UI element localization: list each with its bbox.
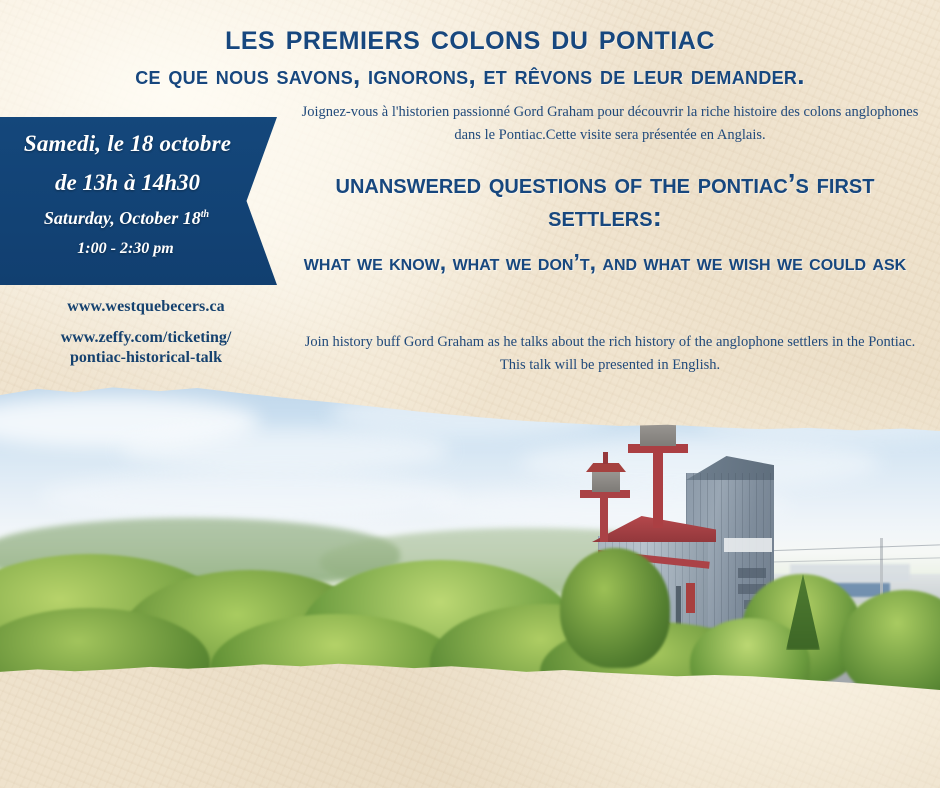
poster-canvas: Les premiers colons du Pontiac Ce que no… — [0, 0, 940, 788]
page-subtitle-french: Ce que nous savons, ignorons, et rêvons … — [0, 60, 940, 91]
page-subtitle-english: What we know, what we don’t, and what we… — [280, 249, 930, 277]
date-banner: Samedi, le 18 octobre de 13h à 14h30 Sat… — [0, 117, 277, 285]
ticketing-link-line1: www.zeffy.com/ticketing/ — [0, 328, 292, 348]
website-link[interactable]: www.westquebecers.ca — [0, 298, 292, 316]
ticketing-link-line2: pontiac-historical-talk — [0, 348, 292, 368]
description-french: Joignez-vous à l'historien passionné Gor… — [300, 101, 920, 148]
date-english: Saturday, October 18th — [0, 208, 277, 229]
time-french: de 13h à 14h30 — [0, 170, 277, 196]
date-french: Samedi, le 18 octobre — [0, 131, 277, 157]
page-title-english: Unanswered Questions of the Pontiac’s Fi… — [280, 168, 930, 234]
date-english-text: Saturday, October 18 — [44, 208, 201, 228]
page-title-french: Les premiers colons du Pontiac — [0, 16, 940, 58]
footer: MOULIN EGAN MILL PONTIAC - QUEBEC Associ… — [0, 690, 940, 788]
date-ordinal-suffix: th — [201, 209, 209, 220]
links-block: www.westquebecers.ca www.zeffy.com/ticke… — [0, 298, 292, 369]
photo-grain-elevator — [0, 378, 940, 690]
time-english: 1:00 - 2:30 pm — [0, 240, 277, 258]
photo-band — [0, 378, 940, 690]
ticketing-link[interactable]: www.zeffy.com/ticketing/ pontiac-histori… — [0, 328, 292, 369]
description-english: Join history buff Gord Graham as he talk… — [300, 331, 920, 378]
